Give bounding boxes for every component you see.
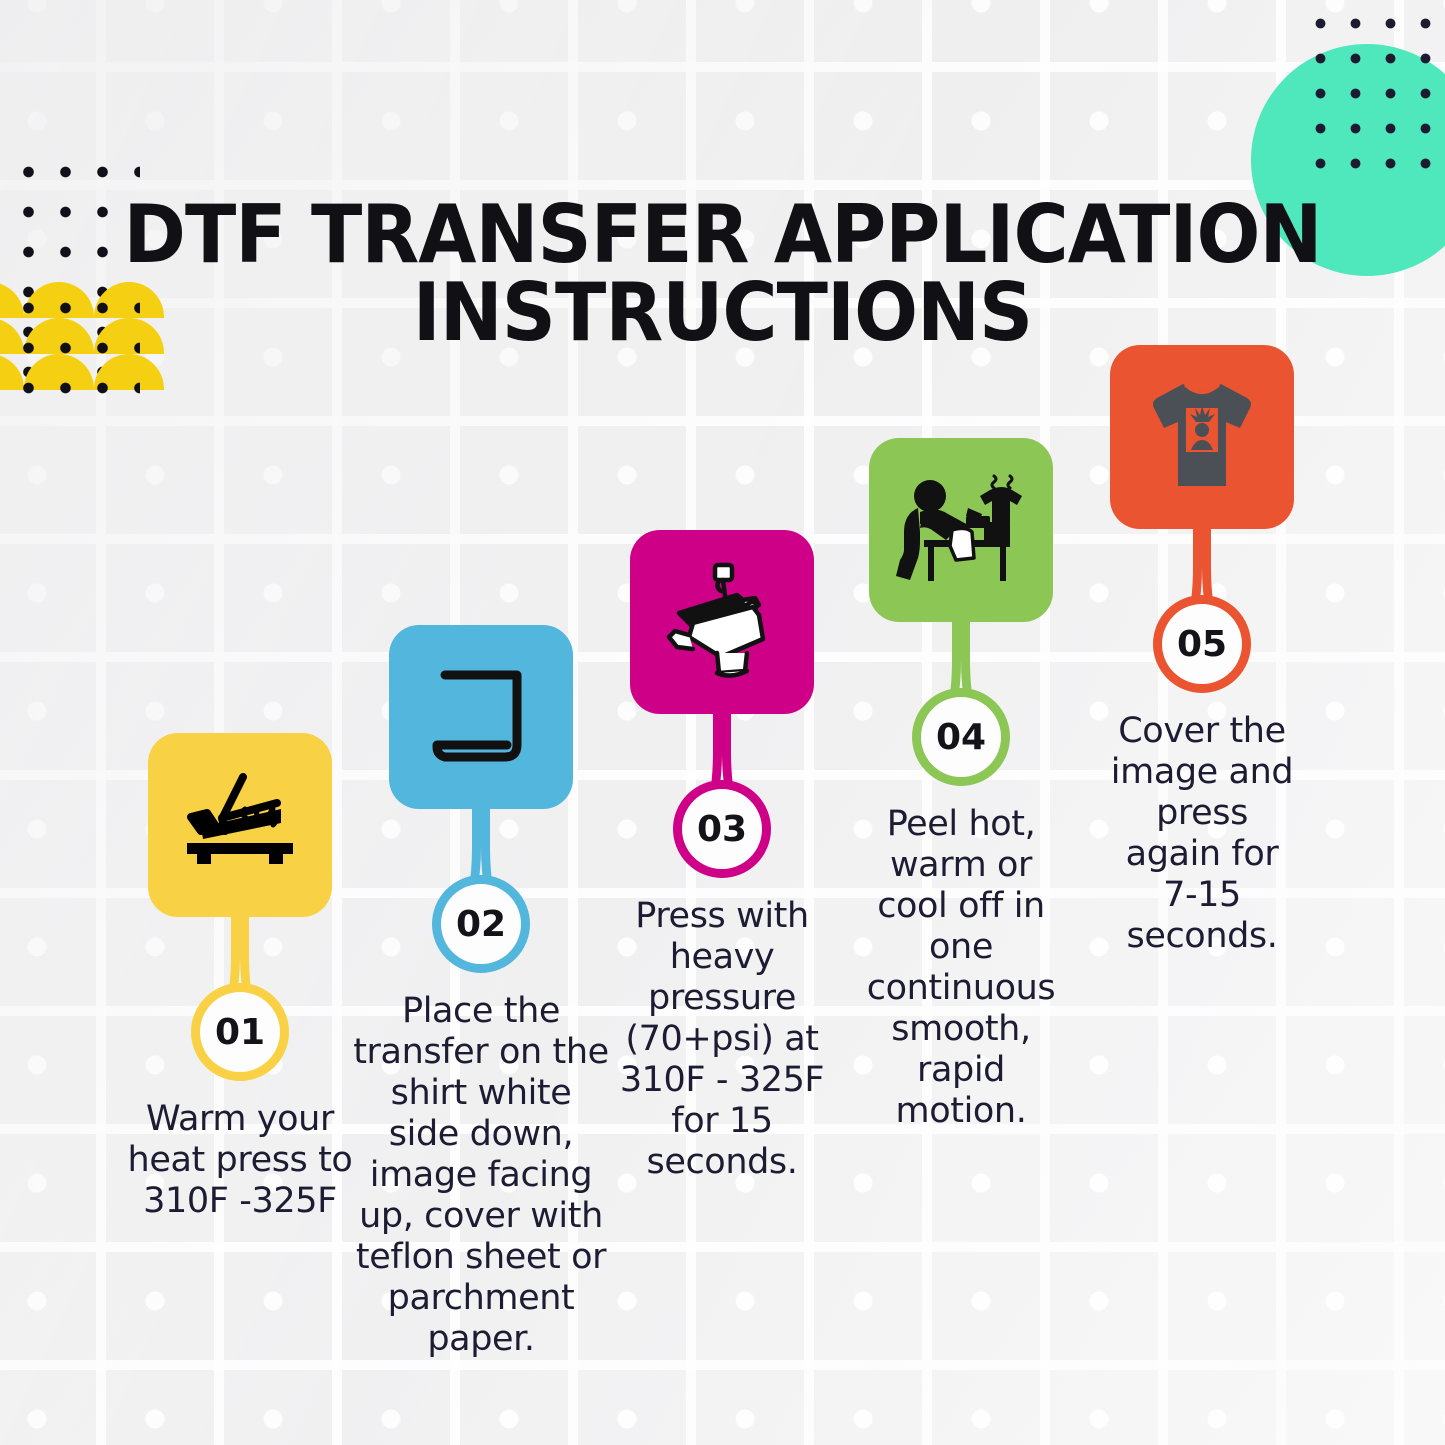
step-icon-card-03 (630, 530, 814, 714)
step-card-03: 03 Press with heavy pressure (70+psi) at… (630, 530, 814, 714)
step-number-badge-02: 02 (432, 875, 530, 973)
step-icon-card-01 (148, 733, 332, 917)
step-card-01: 01 Warm your heat press to 310F -325F (148, 733, 332, 917)
step-icon-card-04 (869, 438, 1053, 622)
step-number-badge-05: 05 (1153, 595, 1251, 693)
step-number-02: 02 (456, 904, 506, 945)
step-icon-card-05 (1110, 345, 1294, 529)
step-number-03: 03 (697, 809, 747, 850)
step-number-04: 04 (936, 717, 986, 758)
step-card-05: 05 Cover the image and press again for 7… (1110, 345, 1294, 529)
step-caption-05: Cover the image and press again for 7-15… (1104, 711, 1300, 957)
peeling-worker-icon (894, 474, 1028, 586)
step-number-badge-03: 03 (673, 780, 771, 878)
step-number-01: 01 (215, 1012, 265, 1053)
step-card-02: 02 Place the transfer on the shirt white… (389, 625, 573, 809)
step-icon-card-02 (389, 625, 573, 809)
printed-tshirt-icon (1141, 376, 1263, 498)
step-card-04: 04 Peel hot, warm or cool off in one con… (869, 438, 1053, 622)
step-caption-02: Place the transfer on the shirt white si… (352, 991, 610, 1359)
heat-press-machine-icon (659, 561, 785, 683)
step-number-badge-01: 01 (191, 983, 289, 1081)
page-title: DTF TRANSFER APPLICATION INSTRUCTIONS (43, 196, 1401, 353)
step-number-05: 05 (1177, 624, 1227, 665)
step-caption-04: Peel hot, warm or cool off in one contin… (857, 804, 1065, 1132)
step-caption-03: Press with heavy pressure (70+psi) at 31… (611, 896, 833, 1183)
transfer-sheet-icon (427, 663, 535, 771)
step-number-badge-04: 04 (912, 688, 1010, 786)
page-title-line-2: INSTRUCTIONS (43, 274, 1401, 352)
step-caption-01: Warm your heat press to 310F -325F (125, 1099, 355, 1222)
heat-press-open-icon (181, 773, 299, 877)
